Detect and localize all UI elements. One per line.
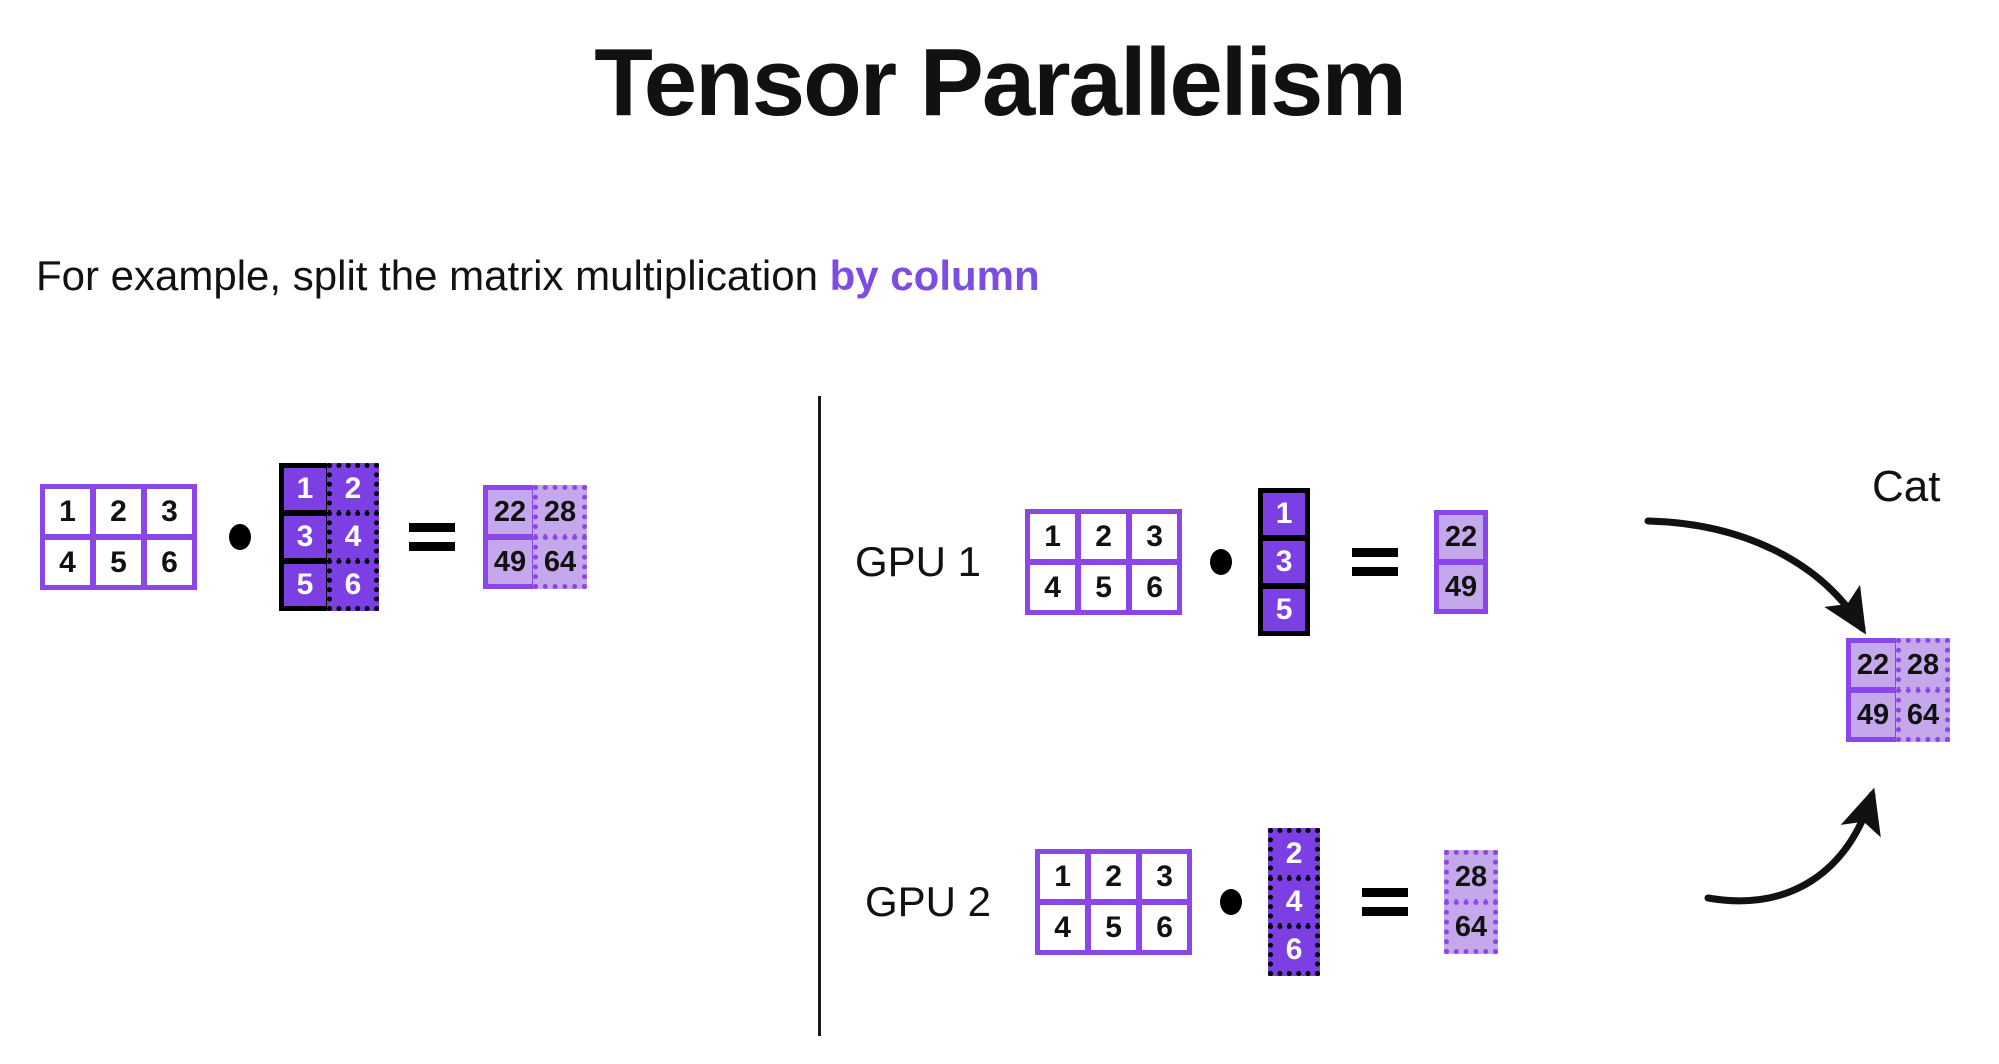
matrix-row: 22	[1436, 512, 1486, 562]
subtitle-prefix: For example, split the matrix multiplica…	[36, 252, 830, 299]
matrix-cell: 5	[1086, 900, 1141, 955]
gpu-1-operand-a: 1 2 3 4 5 6	[1027, 511, 1180, 613]
matrix-row: 22 28	[1848, 640, 1948, 690]
matrix-row: 5	[1260, 586, 1308, 634]
gpu-2-operand-b: 2 4 6	[1270, 830, 1318, 974]
matrix-row: 28	[1446, 852, 1496, 902]
equals-operator-icon	[1362, 887, 1408, 917]
matrix-cell: 3	[1137, 849, 1192, 904]
matrix-cell: 64	[1896, 688, 1950, 742]
gpu-2-operand-a: 1 2 3 4 5 6	[1037, 851, 1190, 953]
matrix-cell: 28	[1444, 850, 1498, 904]
gpu-1-equation: GPU 1 1 2 3 4 5 6 1 3 5	[855, 490, 1486, 634]
matrix-cell: 3	[1127, 509, 1182, 564]
matrix-cell: 49	[1434, 560, 1488, 614]
concat-result: 22 28 49 64	[1848, 640, 1948, 740]
matrix-row: 3	[1260, 538, 1308, 586]
matrix-cell: 6	[1127, 560, 1182, 615]
matrix-row: 64	[1446, 902, 1496, 952]
matrix-cell: 5	[91, 535, 146, 590]
concat-result-matrix: 22 28 49 64	[1848, 640, 1948, 740]
equals-operator-icon	[1352, 547, 1398, 577]
matrix-cell: 3	[1258, 536, 1310, 588]
matrix-cell: 6	[1137, 900, 1192, 955]
matrix-cell: 2	[1268, 828, 1320, 880]
page-title: Tensor Parallelism	[0, 28, 1999, 138]
gpu-1-operand-b: 1 3 5	[1260, 490, 1308, 634]
matrix-cell: 2	[327, 463, 379, 515]
gpu-1-label: GPU 1	[855, 538, 981, 586]
matrix-row: 49 64	[1848, 690, 1948, 740]
matrix-cell: 49	[1846, 688, 1900, 742]
matrix-cell: 5	[279, 559, 331, 611]
matrix-cell: 64	[533, 535, 587, 589]
subtitle-accent: by column	[830, 252, 1040, 299]
matrix-row: 4 5 6	[1027, 562, 1180, 613]
gpu-2-result: 28 64	[1446, 852, 1496, 952]
matrix-cell: 28	[1896, 638, 1950, 692]
matrix-cell: 22	[483, 485, 537, 539]
overview-operand-b: 1 2 3 4 5 6	[281, 465, 377, 609]
matrix-cell: 6	[142, 535, 197, 590]
matrix-row: 49	[1436, 562, 1486, 612]
matrix-row: 1 2 3	[42, 486, 195, 537]
matrix-cell: 4	[40, 535, 95, 590]
matrix-cell: 22	[1846, 638, 1900, 692]
matrix-row: 4	[1270, 878, 1318, 926]
overview-result: 22 28 49 64	[485, 487, 585, 587]
matrix-row: 1 2	[281, 465, 377, 513]
matrix-row: 49 64	[485, 537, 585, 587]
matrix-row: 22 28	[485, 487, 585, 537]
concat-label: Cat	[1872, 462, 1940, 512]
matrix-row: 2	[1270, 830, 1318, 878]
matrix-row: 1	[1260, 490, 1308, 538]
matrix-row: 4 5 6	[42, 537, 195, 588]
matrix-cell: 3	[142, 484, 197, 539]
matrix-cell: 49	[483, 535, 537, 589]
matrix-cell: 4	[1025, 560, 1080, 615]
matrix-cell: 1	[279, 463, 331, 515]
overview-equation: 1 2 3 4 5 6 1 2 3 4 5 6	[42, 465, 585, 609]
matrix-cell: 2	[91, 484, 146, 539]
slide-canvas: Tensor Parallelism For example, split th…	[0, 0, 1999, 1064]
matrix-cell: 6	[327, 559, 379, 611]
matrix-row: 3 4	[281, 513, 377, 561]
matrix-cell: 4	[1268, 876, 1320, 928]
matrix-cell: 28	[533, 485, 587, 539]
arrow-gpu2-to-concat	[1708, 795, 1872, 901]
section-divider	[818, 396, 821, 1036]
matrix-row: 5 6	[281, 561, 377, 609]
matrix-cell: 1	[1035, 849, 1090, 904]
dot-operator-icon	[1210, 549, 1232, 575]
matrix-cell: 1	[1258, 488, 1310, 540]
matrix-row: 4 5 6	[1037, 902, 1190, 953]
matrix-cell: 2	[1076, 509, 1131, 564]
gpu-1-result: 22 49	[1436, 512, 1486, 612]
page-subtitle: For example, split the matrix multiplica…	[36, 252, 1040, 300]
matrix-cell: 1	[40, 484, 95, 539]
matrix-cell: 5	[1258, 584, 1310, 636]
arrow-gpu1-to-concat	[1648, 521, 1862, 628]
matrix-cell: 1	[1025, 509, 1080, 564]
dot-operator-icon	[229, 524, 251, 550]
matrix-cell: 6	[1268, 924, 1320, 976]
matrix-cell: 4	[327, 511, 379, 563]
gpu-2-equation: GPU 2 1 2 3 4 5 6 2 4 6	[865, 830, 1496, 974]
matrix-cell: 4	[1035, 900, 1090, 955]
matrix-cell: 3	[279, 511, 331, 563]
matrix-row: 1 2 3	[1027, 511, 1180, 562]
dot-operator-icon	[1220, 889, 1242, 915]
equals-operator-icon	[409, 522, 455, 552]
matrix-row: 1 2 3	[1037, 851, 1190, 902]
gpu-2-label: GPU 2	[865, 878, 991, 926]
matrix-cell: 5	[1076, 560, 1131, 615]
matrix-row: 6	[1270, 926, 1318, 974]
matrix-cell: 2	[1086, 849, 1141, 904]
matrix-cell: 64	[1444, 900, 1498, 954]
matrix-cell: 22	[1434, 510, 1488, 564]
overview-operand-a: 1 2 3 4 5 6	[42, 486, 195, 588]
